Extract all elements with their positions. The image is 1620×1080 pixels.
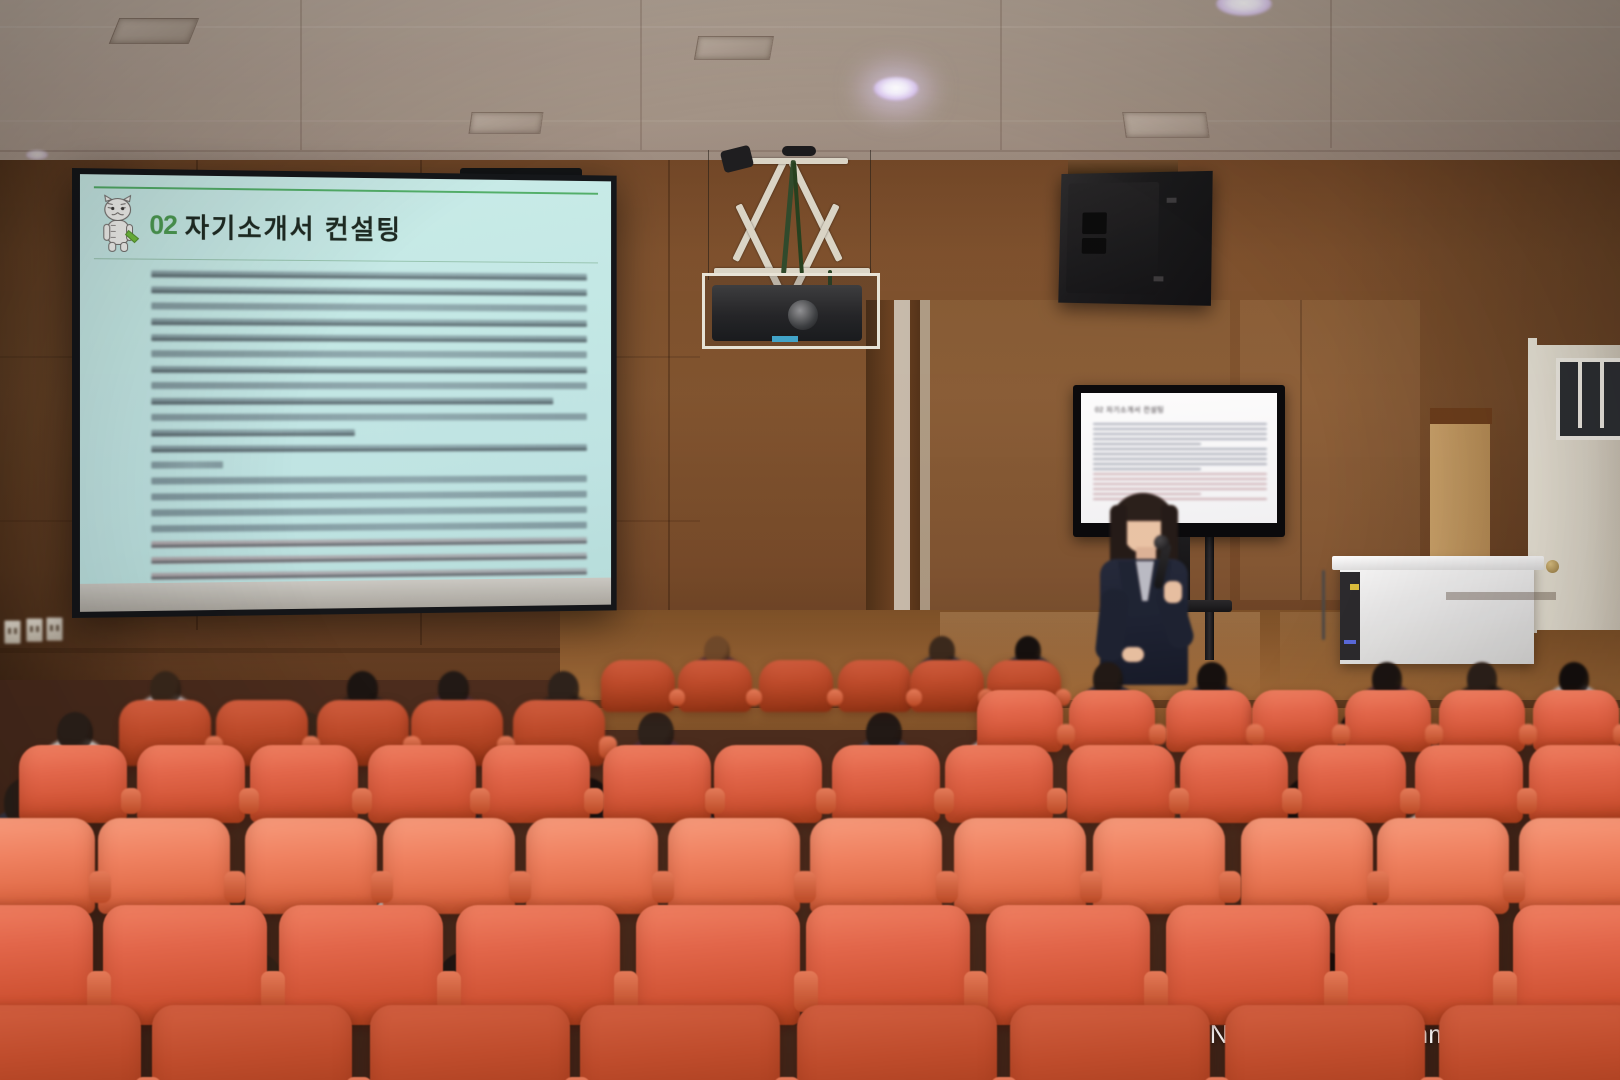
auditorium-seat[interactable] xyxy=(1010,1005,1210,1080)
door-knob-icon[interactable] xyxy=(1546,560,1559,573)
speaker-port xyxy=(1082,212,1107,234)
auditorium-seat[interactable] xyxy=(98,818,230,914)
slide-text-line xyxy=(151,382,587,389)
alcove-frame xyxy=(894,300,910,650)
slide-header: 02 자기소개서 컨설팅 xyxy=(96,194,402,257)
seat-armrest xyxy=(652,871,674,904)
auditorium-seat[interactable] xyxy=(383,818,515,914)
projector-body xyxy=(712,285,862,341)
monitor-text-line xyxy=(1093,433,1267,435)
seat-armrest xyxy=(774,1077,800,1080)
slide-text-line xyxy=(151,444,587,452)
ceiling-panel-line xyxy=(1000,0,1002,150)
auditorium-seat[interactable] xyxy=(1439,690,1525,752)
auditorium-seat[interactable] xyxy=(0,818,95,914)
auditorium-seat[interactable] xyxy=(370,1005,570,1080)
auditorium-seat[interactable] xyxy=(1069,690,1155,752)
door-mullion xyxy=(1600,362,1604,428)
seat-armrest xyxy=(564,1077,590,1080)
seat-armrest xyxy=(1080,871,1102,904)
auditorium-seat[interactable] xyxy=(945,745,1053,823)
monitor-text-line xyxy=(1093,463,1267,465)
slide-title: 자기소개서 컨설팅 xyxy=(185,206,402,247)
seat-armrest xyxy=(1047,788,1067,815)
auditorium-seat[interactable] xyxy=(1225,1005,1425,1080)
auditorium-seat[interactable] xyxy=(526,818,658,914)
auditorium-photo: 02 자기소개서 컨설팅 02 자기소개서 컨설팅 xyxy=(0,0,1620,1080)
presenter-hand xyxy=(1164,581,1182,603)
seat-armrest xyxy=(346,1077,372,1080)
slide-section-number: 02 xyxy=(149,209,177,240)
speaker-indicator xyxy=(1154,276,1164,281)
auditorium-seat[interactable] xyxy=(250,745,358,823)
projector-label xyxy=(772,336,798,342)
auditorium-seat[interactable] xyxy=(714,745,822,823)
auditorium-seat[interactable] xyxy=(678,660,752,712)
auditorium-seat[interactable] xyxy=(245,818,377,914)
seat-armrest xyxy=(224,871,246,904)
speaker-grille xyxy=(1066,182,1159,295)
wood-seam xyxy=(668,160,670,660)
slide-text-line xyxy=(151,350,587,358)
slide-body-text xyxy=(151,271,587,584)
seat-armrest xyxy=(509,871,531,904)
slide-text-line xyxy=(151,366,587,374)
monitor-text-line xyxy=(1093,478,1267,480)
monitor-text-line xyxy=(1093,443,1201,445)
screen-bottom-bar xyxy=(80,578,611,612)
slide-text-line xyxy=(151,475,587,484)
auditorium-seat[interactable] xyxy=(1415,745,1523,823)
projection-screen: 02 자기소개서 컨설팅 xyxy=(72,168,617,618)
slide-text-line xyxy=(151,334,587,342)
auditorium-seat[interactable] xyxy=(1519,818,1620,914)
lectern-label xyxy=(1350,584,1359,590)
auditorium-seat[interactable] xyxy=(668,818,800,914)
projector-lens-icon xyxy=(788,300,818,330)
monitor-text-line xyxy=(1093,448,1267,450)
seat-armrest xyxy=(705,788,725,815)
slide-text-line xyxy=(151,413,587,421)
slide-text-line xyxy=(151,429,354,436)
auditorium-seat[interactable] xyxy=(977,690,1063,752)
auditorium-seat[interactable] xyxy=(1298,745,1406,823)
lectern-cable xyxy=(1322,570,1325,640)
ceiling-cable-loop xyxy=(782,146,816,156)
seat-armrest xyxy=(371,871,393,904)
slide-text-line xyxy=(151,553,587,564)
monitor-text-line xyxy=(1093,438,1267,440)
screen-surface: 02 자기소개서 컨설팅 xyxy=(80,174,611,584)
auditorium-seat[interactable] xyxy=(580,1005,780,1080)
slide-text-line xyxy=(151,318,587,327)
monitor-text-line xyxy=(1093,458,1267,460)
lectern-indicator xyxy=(1344,640,1356,644)
auditorium-seat[interactable] xyxy=(1377,818,1509,914)
auditorium-seat[interactable] xyxy=(954,818,1086,914)
speaker-indicator xyxy=(1167,198,1177,203)
slide-text-line xyxy=(151,522,587,533)
seat-armrest xyxy=(936,871,958,904)
pillar-cap xyxy=(1430,408,1492,424)
auditorium-seat[interactable] xyxy=(832,745,940,823)
auditorium-seat[interactable] xyxy=(1533,690,1619,752)
auditorium-seat[interactable] xyxy=(368,745,476,823)
pa-speaker xyxy=(1058,171,1212,306)
ceiling-vent xyxy=(109,18,200,44)
monitor-text-line xyxy=(1093,453,1267,455)
auditorium-seat[interactable] xyxy=(1180,745,1288,823)
seat-armrest xyxy=(1425,724,1443,745)
auditorium-seat[interactable] xyxy=(910,660,984,712)
seat-armrest xyxy=(1169,788,1189,815)
auditorium-seat[interactable] xyxy=(601,660,675,712)
auditorium-seat[interactable] xyxy=(1345,690,1431,752)
auditorium-seat[interactable] xyxy=(810,818,942,914)
door-window xyxy=(1556,358,1620,440)
slide-top-rule xyxy=(94,186,598,194)
seat-armrest xyxy=(1503,871,1525,904)
slide-text-line xyxy=(151,287,587,297)
seat-armrest xyxy=(1057,724,1075,745)
presenter xyxy=(1082,485,1202,685)
tiger-mascot-icon xyxy=(96,194,142,254)
ceiling-seam xyxy=(0,26,1620,28)
auditorium-seat[interactable] xyxy=(152,1005,352,1080)
ceiling-vent xyxy=(1122,112,1210,138)
auditorium-seat[interactable] xyxy=(19,745,127,823)
seat-armrest xyxy=(584,788,604,815)
seat-armrest xyxy=(1519,724,1537,745)
seat-armrest xyxy=(1517,788,1537,815)
auditorium-seat[interactable] xyxy=(0,1005,141,1080)
monitor-text-line xyxy=(1093,423,1267,425)
speaker-port xyxy=(1082,238,1107,254)
lectern-shelf xyxy=(1446,592,1556,600)
ceiling-panel-line xyxy=(1330,0,1332,148)
seat-armrest xyxy=(669,689,685,707)
seat-armrest xyxy=(239,788,259,815)
monitor-text-line xyxy=(1093,428,1267,430)
auditorium-seat[interactable] xyxy=(137,745,245,823)
seat-armrest xyxy=(1149,724,1167,745)
slide-text-line xyxy=(151,506,587,516)
seat-armrest xyxy=(794,871,816,904)
auditorium-seat[interactable] xyxy=(797,1005,997,1080)
monitor-text-line xyxy=(1093,468,1201,470)
ceiling-panel-line xyxy=(640,0,642,150)
presenter-hand xyxy=(1122,647,1144,662)
seat-armrest xyxy=(121,788,141,815)
wall-outlet[interactable] xyxy=(46,617,63,641)
auditorium-seat[interactable] xyxy=(1439,1005,1620,1080)
seat-armrest xyxy=(906,689,922,707)
door-mullion xyxy=(1578,362,1582,428)
wood-baseboard xyxy=(0,648,560,653)
monitor-slide-title: 02 자기소개서 컨설팅 xyxy=(1095,405,1164,415)
monitor-text-line xyxy=(1093,473,1267,475)
seat-armrest xyxy=(1332,724,1350,745)
lectern-top-surface xyxy=(1332,556,1544,570)
seat-armrest xyxy=(1400,788,1420,815)
slide-text-line xyxy=(151,537,587,548)
support-wire xyxy=(870,150,871,276)
auditorium-seat[interactable] xyxy=(603,745,711,823)
auditorium-seat[interactable] xyxy=(759,660,833,712)
auditorium-seat[interactable] xyxy=(482,745,590,823)
ceiling-vent xyxy=(694,36,774,60)
slide: 02 자기소개서 컨설팅 xyxy=(80,174,611,584)
auditorium-seat[interactable] xyxy=(1166,690,1252,752)
auditorium-seat[interactable] xyxy=(1067,745,1175,823)
slide-text-line xyxy=(151,491,587,501)
auditorium-seat[interactable] xyxy=(838,660,912,712)
microphone-head-icon xyxy=(1154,535,1169,550)
seat-armrest xyxy=(1219,871,1241,904)
auditorium-seat[interactable] xyxy=(1093,818,1225,914)
slide-text-line xyxy=(151,271,587,281)
seat-armrest xyxy=(135,1077,161,1080)
support-wire xyxy=(708,150,709,280)
lectern xyxy=(1340,560,1534,664)
slide-bottom-rule xyxy=(94,258,598,263)
slide-text-line xyxy=(151,302,587,311)
auditorium-seat[interactable] xyxy=(1252,690,1338,752)
seat-armrest xyxy=(1246,724,1264,745)
ceiling-downlight xyxy=(26,150,48,160)
ceiling-downlight xyxy=(873,77,919,101)
wall-outlet[interactable] xyxy=(26,618,43,642)
ceiling-seam xyxy=(0,120,1620,122)
seat-armrest xyxy=(934,788,954,815)
slide-text-line xyxy=(151,461,222,468)
seat-armrest xyxy=(1282,788,1302,815)
seat-armrest xyxy=(1367,871,1389,904)
ceiling-panel-line xyxy=(300,0,302,150)
alcove-frame xyxy=(920,300,930,652)
slide-text-line xyxy=(151,398,553,405)
ceiling-vent xyxy=(468,112,543,134)
seat-armrest xyxy=(816,788,836,815)
seat-armrest xyxy=(352,788,372,815)
wall-outlet[interactable] xyxy=(4,620,21,644)
seat-armrest xyxy=(470,788,490,815)
auditorium-seat[interactable] xyxy=(1241,818,1373,914)
seat-armrest xyxy=(89,871,111,904)
auditorium-seat[interactable] xyxy=(1529,745,1620,823)
